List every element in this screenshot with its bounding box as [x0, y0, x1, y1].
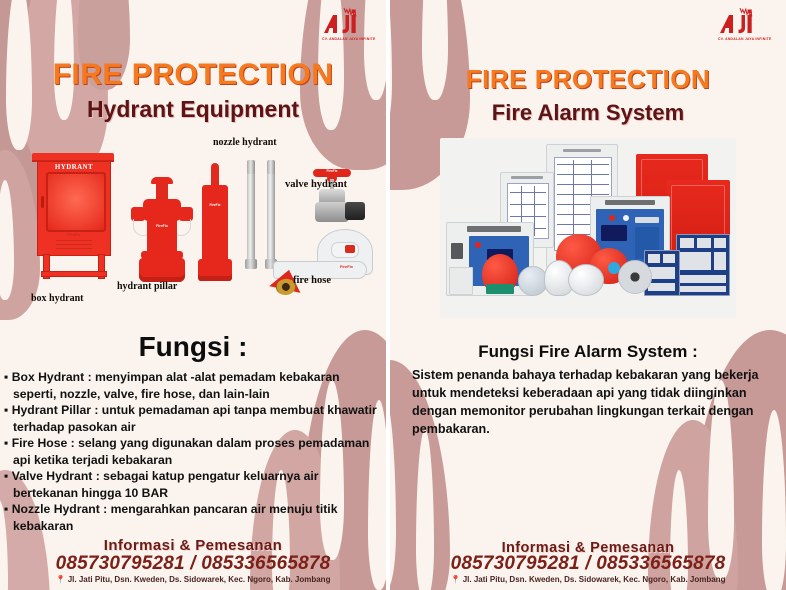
list-item-text: Fire Hose : selang yang digunakan dalam …: [12, 436, 370, 467]
box-hydrant-graphic: HYDRANT FireFix: [37, 153, 109, 277]
label-box-hydrant: box hydrant: [31, 293, 84, 304]
list-item-text: Valve Hydrant : sebagai katup pengatur k…: [12, 469, 319, 500]
company-logo-left: CV. ANDALAN JAYA INFINITE: [322, 6, 374, 41]
box-hydrant-brand: FireFix: [38, 232, 110, 237]
fire-alarm-system-illustration: [440, 138, 736, 318]
nozzle-head: [247, 160, 255, 174]
bullet-icon: ▪: [4, 502, 12, 516]
list-item: ▪ Hydrant Pillar : untuk pemadaman api t…: [4, 402, 380, 435]
list-item: ▪ Nozzle Hydrant : mengarahkan pancaran …: [4, 501, 380, 534]
panel-label-strip: [605, 200, 655, 205]
right-section-title: Fungsi Fire Alarm System :: [390, 342, 786, 362]
aji-logo-svg: [718, 6, 770, 36]
list-item-text: Nozzle Hydrant : mengarahkan pancaran ai…: [12, 502, 338, 533]
box-hydrant-window: [46, 172, 106, 232]
smoke-detector: [568, 264, 604, 296]
footer-info-label: Informasi & Pemesanan: [0, 537, 386, 554]
left-heading-subtitle: Hydrant Equipment: [0, 96, 386, 123]
pillar2-brand: FireFix: [202, 203, 228, 207]
footer-address-text: Jl. Jati Pitu, Dsn. Kweden, Ds. Sidoware…: [68, 575, 331, 584]
list-item: ▪ Box Hydrant : menyimpan alat -alat pem…: [4, 369, 380, 402]
location-pin-icon: 📍: [451, 575, 461, 584]
left-function-list: ▪ Box Hydrant : menyimpan alat -alat pem…: [4, 369, 380, 534]
bullet-icon: ▪: [4, 403, 12, 417]
nozzle-shaft: [247, 163, 255, 267]
list-item-text: Box Hydrant : menyimpan alat -alat pemad…: [12, 370, 340, 401]
bullet-icon: ▪: [4, 436, 12, 450]
panel-lcd: [601, 225, 627, 241]
footer-phone-numbers[interactable]: 085730795281 / 085336565878: [0, 553, 386, 575]
bullet-icon: ▪: [4, 370, 12, 384]
right-description: Sistem penanda bahaya terhadap kebakaran…: [412, 366, 768, 438]
pillar2-body: [202, 185, 228, 263]
panel-label-strip: [563, 149, 601, 152]
valve-body: [315, 202, 349, 222]
side-module: [449, 267, 473, 295]
hydrant-pillar-graphic: FireFix: [131, 177, 193, 287]
right-heading-title: FIRE PROTECTION: [390, 64, 786, 95]
function-list: ▪ Box Hydrant : menyimpan alat -alat pem…: [4, 369, 380, 534]
list-item: ▪ Fire Hose : selang yang digunakan dala…: [4, 435, 380, 468]
vent-line: [56, 248, 92, 249]
logo-caption: CV. ANDALAN JAYA INFINITE: [718, 37, 770, 41]
label-hydrant-pillar: hydrant pillar: [117, 281, 177, 292]
pillar-brand: FireFix: [147, 224, 177, 228]
location-pin-icon: 📍: [56, 575, 66, 584]
box-hydrant-label-text: HYDRANT: [38, 163, 110, 171]
panel-label-strip: [467, 226, 521, 232]
pillar-head: [143, 199, 181, 221]
left-section-title: Fungsi :: [0, 331, 386, 363]
label-valve-hydrant: valve hydrant: [285, 179, 347, 190]
vent-line: [56, 244, 92, 245]
footer-address: 📍 Jl. Jati Pitu, Dsn. Kweden, Ds. Sidowa…: [0, 575, 386, 584]
list-item-text: Hydrant Pillar : untuk pemadaman api tan…: [12, 403, 377, 434]
panel-label-strip: [511, 176, 543, 179]
right-heading-subtitle: Fire Alarm System: [390, 100, 786, 126]
left-heading-block: FIRE PROTECTION Hydrant Equipment: [0, 58, 386, 123]
right-poster-panel: CV. ANDALAN JAYA INFINITE FIRE PROTECTIO…: [390, 0, 786, 590]
aji-logo-svg: [322, 6, 374, 36]
vent-line: [56, 240, 92, 241]
pillar2-base: [198, 259, 232, 281]
pillar-base: [139, 258, 185, 282]
right-footer: Informasi & Pemesanan 085730795281 / 085…: [390, 540, 786, 584]
company-logo-right: CV. ANDALAN JAYA INFINITE: [718, 6, 770, 41]
box-hydrant-rail: [41, 271, 107, 277]
hydrant-equipment-illustration: HYDRANT FireFix box hydrant: [13, 131, 373, 321]
footer-phone-numbers[interactable]: 085730795281 / 085336565878: [390, 553, 786, 575]
bell-base-label: [486, 284, 514, 294]
label-fire-hose: fire hose: [293, 275, 331, 286]
detector-base: [618, 260, 652, 294]
left-footer: Informasi & Pemesanan 085730795281 / 085…: [0, 537, 386, 584]
panel-lock: [451, 243, 463, 259]
hose-brand: FireFix: [340, 264, 353, 269]
status-led: [623, 215, 629, 221]
alarm-led: [475, 242, 481, 248]
alarm-led: [609, 215, 615, 221]
logo-mark-aji: [718, 6, 770, 36]
hose-reel-hub-marker: [345, 245, 355, 253]
footer-address-text: Jl. Jati Pitu, Dsn. Kweden, Ds. Sidoware…: [463, 575, 726, 584]
nozzle-foot: [245, 259, 257, 269]
logo-mark-aji: [322, 6, 374, 36]
bullet-icon: ▪: [4, 469, 12, 483]
footer-address: 📍 Jl. Jati Pitu, Dsn. Kweden, Ds. Sidowa…: [390, 575, 786, 584]
box-hydrant-handle: [41, 196, 44, 208]
poster-canvas: CV. ANDALAN JAYA INFINITE FIRE PROTECTIO…: [0, 0, 786, 590]
right-heading-block: FIRE PROTECTION Fire Alarm System: [390, 64, 786, 126]
addressable-module-right: [676, 234, 730, 296]
valve-outlet: [345, 202, 365, 220]
panel-display-strip: [635, 217, 659, 223]
list-item: ▪ Valve Hydrant : sebagai katup pengatur…: [4, 468, 380, 501]
label-nozzle-hydrant: nozzle hydrant: [213, 137, 277, 148]
nozzle-head: [267, 160, 275, 174]
flame-notch: [0, 180, 14, 300]
box-hydrant-body: HYDRANT FireFix: [37, 161, 111, 256]
left-poster-panel: CV. ANDALAN JAYA INFINITE FIRE PROTECTIO…: [0, 0, 386, 590]
hydrant-pillar-secondary-graphic: FireFix: [198, 163, 232, 285]
logo-caption: CV. ANDALAN JAYA INFINITE: [322, 37, 374, 41]
valve-hydrant-graphic: FireFix: [299, 169, 367, 229]
left-heading-title: FIRE PROTECTION: [0, 58, 386, 92]
